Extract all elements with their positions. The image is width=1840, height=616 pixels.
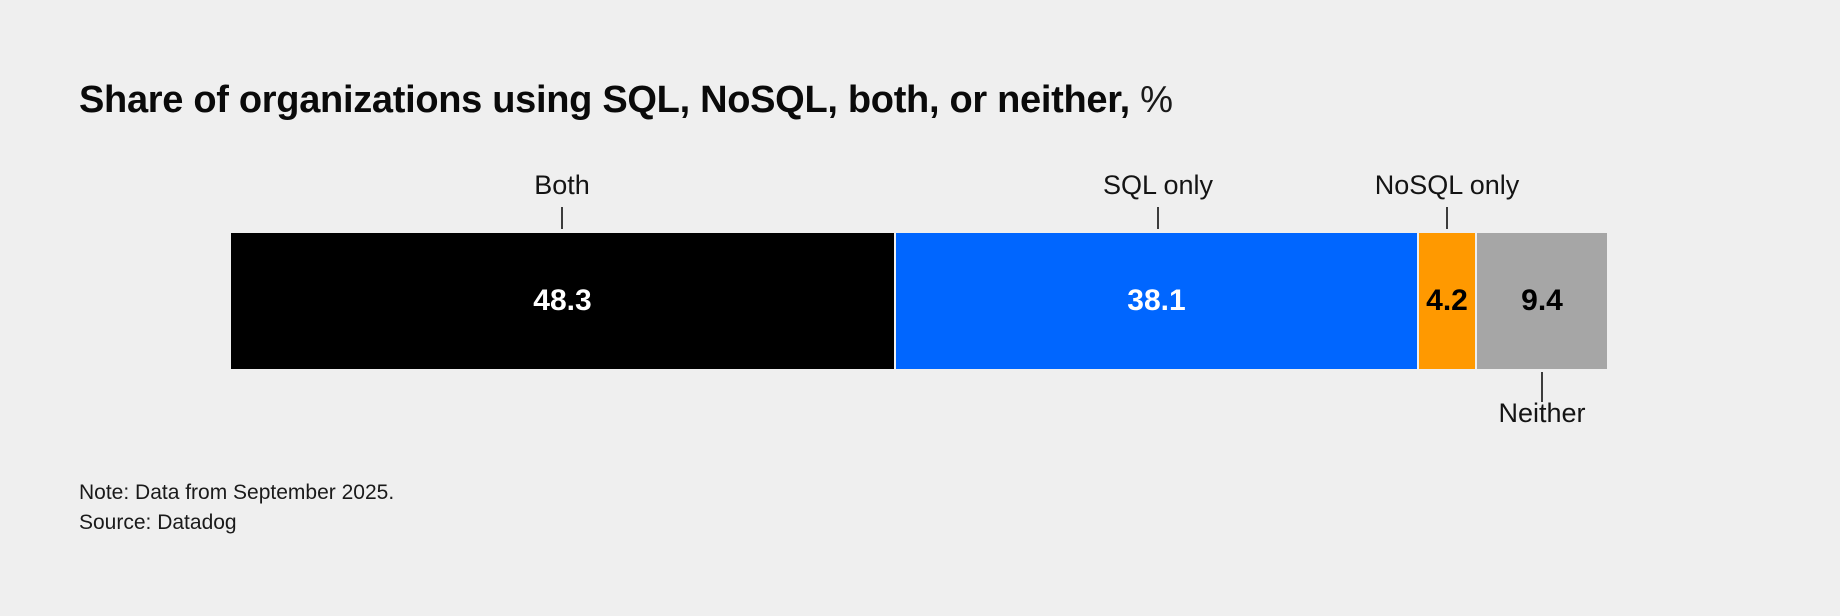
bar-segment-nosql-only[interactable]: 4.2: [1419, 233, 1475, 369]
chart-title-unit: %: [1140, 79, 1173, 120]
stacked-bar: 48.3 38.1 4.2 9.4: [231, 233, 1607, 369]
chart-title-main: Share of organizations using SQL, NoSQL,…: [79, 79, 1130, 121]
bar-value-neither: 9.4: [1521, 286, 1563, 316]
bar-segment-both[interactable]: 48.3: [231, 233, 894, 369]
callout-label-nosql-only: NoSQL only: [1375, 172, 1520, 199]
callout-label-sql-only: SQL only: [1103, 172, 1213, 199]
callout-tick-nosql-only: [1446, 207, 1448, 229]
footer-source: Source: Datadog: [79, 508, 394, 538]
bar-segment-neither[interactable]: 9.4: [1477, 233, 1607, 369]
footer: Note: Data from September 2025. Source: …: [79, 478, 394, 539]
callout-tick-sql-only: [1157, 207, 1159, 229]
bar-segment-sql-only[interactable]: 38.1: [896, 233, 1417, 369]
callout-label-both: Both: [534, 172, 590, 199]
footer-note: Note: Data from September 2025.: [79, 478, 394, 508]
bar-value-sql-only: 38.1: [1127, 286, 1185, 316]
page-title: Share of organizations using SQL, NoSQL,…: [79, 80, 1173, 122]
callout-tick-both: [561, 207, 563, 229]
bar-value-both: 48.3: [533, 286, 591, 316]
bar-value-nosql-only: 4.2: [1426, 286, 1468, 316]
chart-figure: Share of organizations using SQL, NoSQL,…: [0, 0, 1840, 616]
callout-label-neither: Neither: [1498, 400, 1585, 427]
